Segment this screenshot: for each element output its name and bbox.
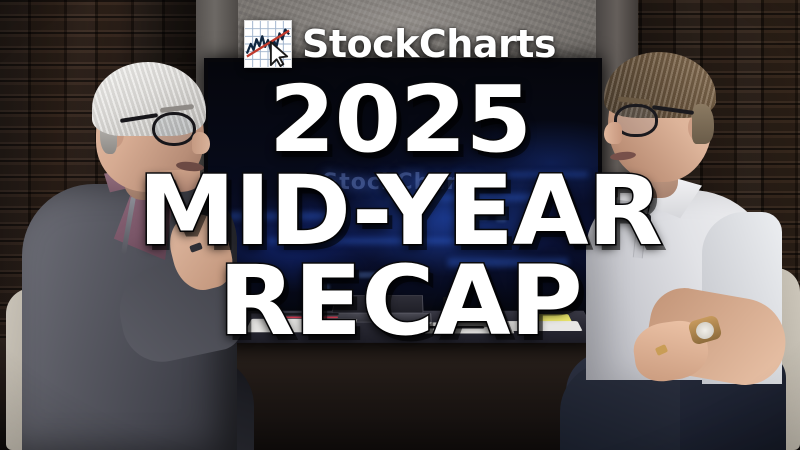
person-left-glasses (152, 112, 196, 146)
video-thumbnail: StockCharts (0, 0, 800, 450)
brand-wordmark: StockCharts (302, 25, 556, 63)
stock-chart-cursor-icon (244, 20, 292, 68)
black-pen (267, 313, 339, 315)
black-pen-2 (428, 326, 485, 328)
person-left-nose (192, 132, 210, 154)
brand-logo: StockCharts (0, 20, 800, 68)
paper-pad (245, 319, 357, 332)
person-left-chin (160, 170, 200, 192)
studio-desk (223, 311, 601, 343)
lapel-microphone-icon (640, 214, 651, 230)
display-screen: StockCharts (208, 62, 598, 314)
red-pen (273, 316, 338, 318)
person-right-nose (604, 122, 622, 144)
person-right-temple-hair (692, 104, 714, 144)
wall-display-monitor: StockCharts (204, 58, 602, 318)
screen-brand-text: StockCharts (208, 170, 598, 195)
laptop-lid (331, 295, 423, 313)
notebook (499, 321, 583, 331)
